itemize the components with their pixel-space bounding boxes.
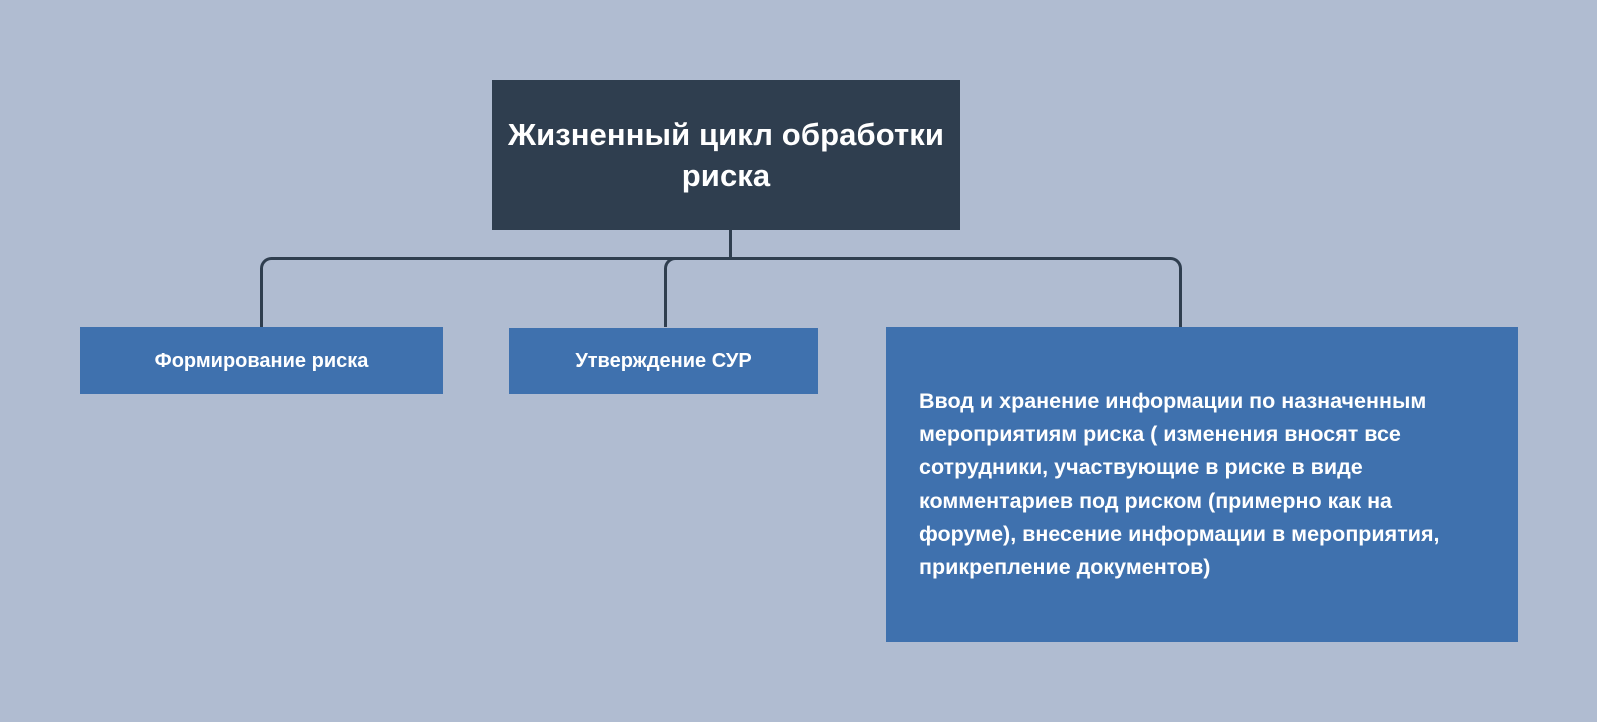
connector-branch-formation [262,259,731,328]
diagram-canvas: Жизненный цикл обработки риска Формирова… [0,0,1597,722]
node-sur-approval[interactable]: Утверждение СУР [509,328,818,394]
node-risk-formation-label: Формирование риска [155,348,369,374]
node-root-lifecycle[interactable]: Жизненный цикл обработки риска [492,80,960,230]
node-risk-formation[interactable]: Формирование риска [80,327,443,394]
node-information-storage-label: Ввод и хранение информации по назначенны… [919,385,1486,585]
node-information-storage[interactable]: Ввод и хранение информации по назначенны… [886,327,1518,642]
connector-branch-storage [731,259,1181,328]
node-root-label: Жизненный цикл обработки риска [492,114,960,196]
node-sur-approval-label: Утверждение СУР [575,348,751,374]
connector-branch-approval [666,259,676,328]
